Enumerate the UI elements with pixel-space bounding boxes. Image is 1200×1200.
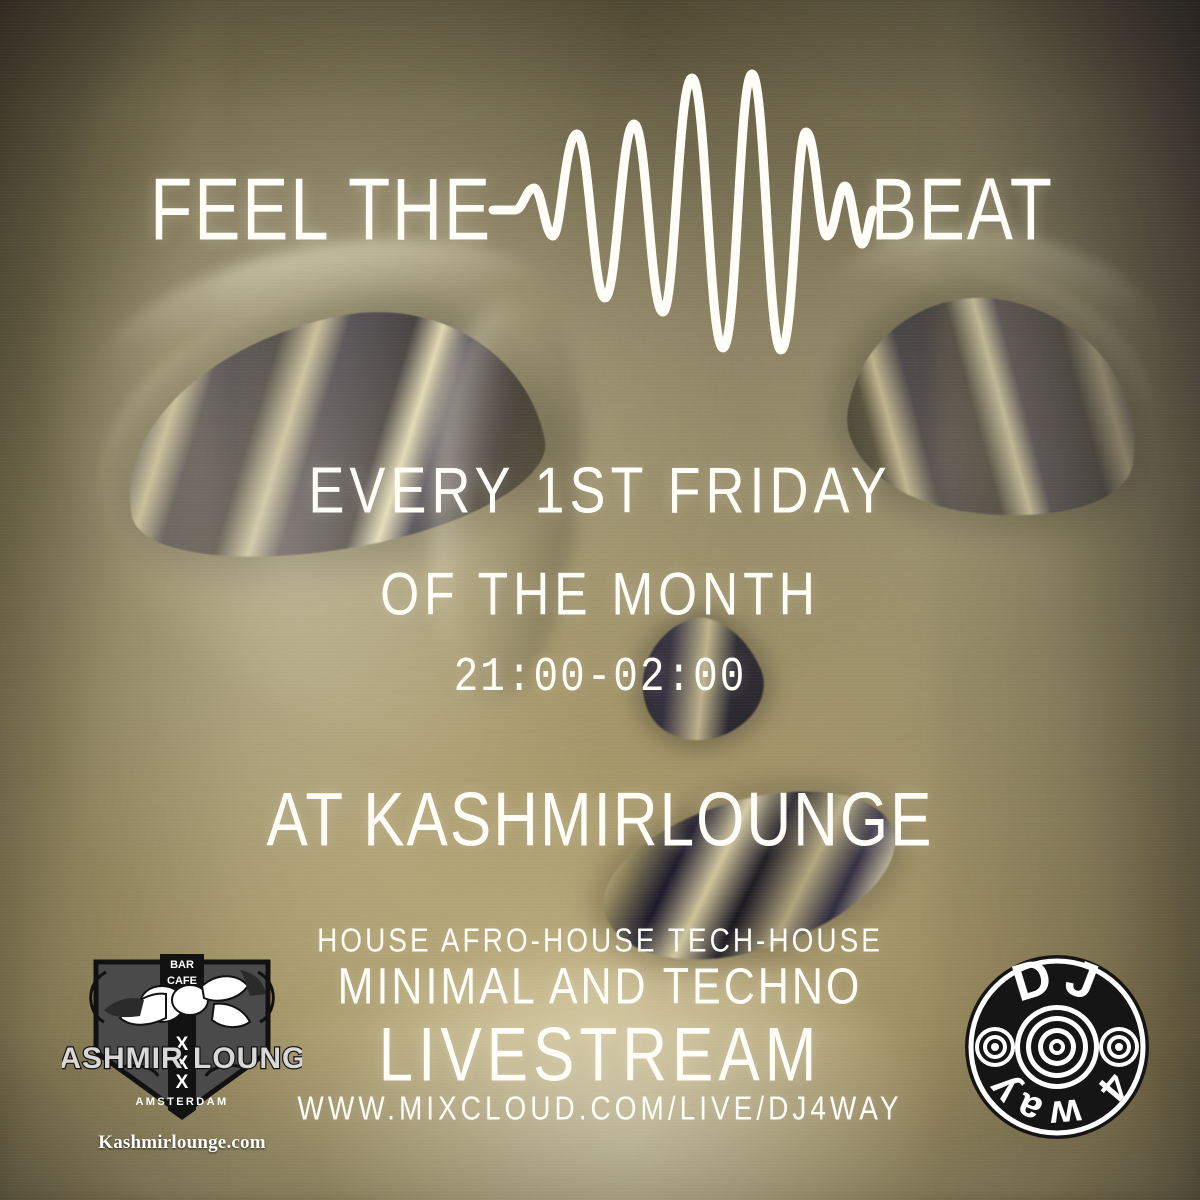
flyer-content: FEEL THE BEAT EVERY 1ST FRIDAY OF THE MO… [0, 0, 1200, 1200]
hero-title: FEEL THE BEAT [0, 150, 1200, 270]
kashmir-lounge-logo[interactable]: X X X BAR CAFE [62, 942, 302, 1152]
schedule-period: OF THE MONTH [0, 559, 1200, 629]
venue-line: AT KASHMIRLOUNGE [0, 777, 1200, 864]
kashmir-city-label: AMSTERDAM [135, 1096, 228, 1108]
kashmir-website-caption[interactable]: Kashmirlounge.com [62, 1132, 302, 1154]
dj4way-logo[interactable]: DJ 4 way [962, 952, 1152, 1142]
dj-logo-right-tweeter [1099, 1027, 1139, 1067]
svg-text:X: X [176, 1072, 189, 1093]
flyer-poster: FEEL THE BEAT EVERY 1ST FRIDAY OF THE MO… [0, 0, 1200, 1200]
schedule-time: 21:00-02:00 [0, 651, 1200, 705]
kashmir-bar-label: BAR [170, 959, 194, 971]
dj-logo-left-tweeter [975, 1027, 1015, 1067]
schedule-frequency: EVERY 1ST FRIDAY [0, 454, 1200, 528]
hero-title-left: FEEL THE [150, 166, 492, 254]
audio-waveform-icon [493, 60, 873, 360]
hero-title-right: BEAT [871, 166, 1054, 254]
dj-logo-center-speaker [1015, 1005, 1099, 1089]
kashmir-wordmark: KASHMIR LOUNGE [62, 1042, 302, 1075]
